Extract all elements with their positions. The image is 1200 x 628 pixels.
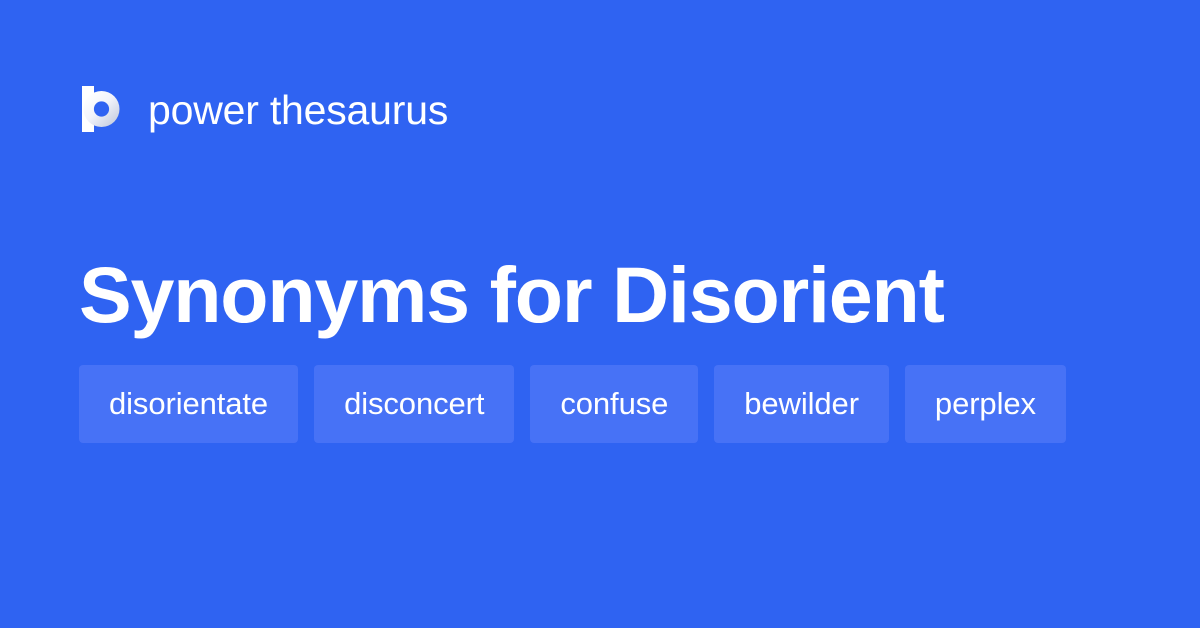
brand-name: power thesaurus	[148, 90, 448, 131]
power-thesaurus-logo-icon	[79, 86, 123, 134]
page-title: Synonyms for Disorient	[79, 255, 944, 334]
synonym-chip[interactable]: perplex	[905, 365, 1066, 443]
page-background: power thesaurus Synonyms for Disorient d…	[0, 0, 1200, 628]
brand-header[interactable]: power thesaurus	[79, 82, 448, 138]
synonym-chip[interactable]: disorientate	[79, 365, 298, 443]
synonym-chip[interactable]: bewilder	[714, 365, 889, 443]
synonym-chip[interactable]: disconcert	[314, 365, 514, 443]
synonym-chip[interactable]: confuse	[530, 365, 698, 443]
synonym-chip-list: disorientate disconcert confuse bewilder…	[79, 365, 1099, 443]
